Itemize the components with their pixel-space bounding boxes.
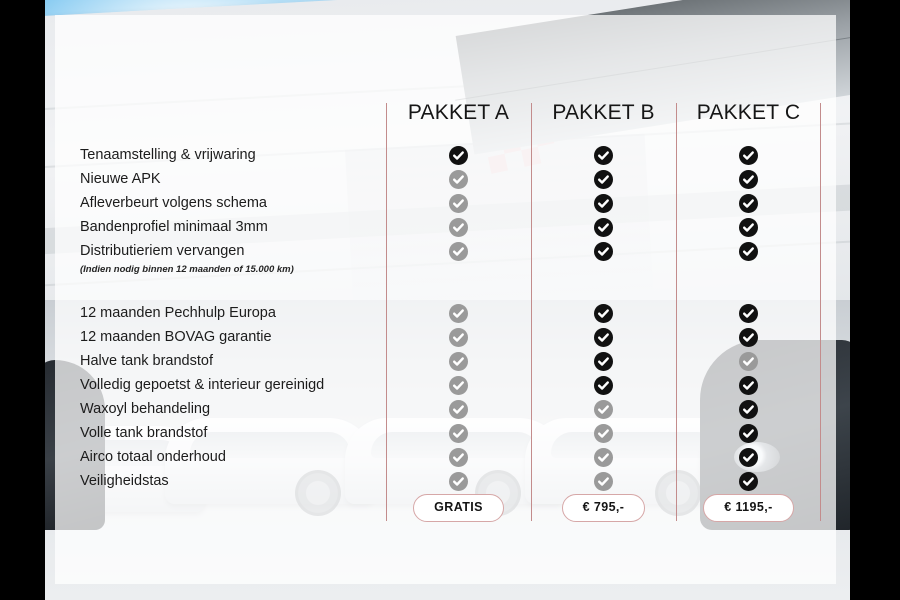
feature-label: Waxoyl behandeling: [80, 397, 380, 421]
check-cell: [676, 325, 821, 349]
feature-label-list: Tenaamstelling & vrijwaring Nieuwe APK A…: [80, 143, 380, 493]
feature-label: Veiligheidstas: [80, 469, 380, 493]
check-included-icon: [594, 146, 613, 165]
price-pill-pakket-a[interactable]: GRATIS: [413, 494, 504, 522]
feature-label: Tenaamstelling & vrijwaring: [80, 143, 380, 167]
check-excluded-icon: [594, 472, 613, 491]
check-excluded-icon: [449, 328, 468, 347]
check-cell: [676, 469, 821, 493]
check-included-icon: [594, 352, 613, 371]
feature-footnote: (Indien nodig binnen 12 maanden of 15.00…: [80, 263, 380, 279]
check-cell: [386, 445, 531, 469]
feature-label: 12 maanden Pechhulp Europa: [80, 301, 380, 325]
check-cell: [531, 469, 676, 493]
check-excluded-icon: [449, 194, 468, 213]
column-header-pakket-a: PAKKET A: [386, 101, 531, 125]
feature-label: Airco totaal onderhoud: [80, 445, 380, 469]
check-cell: [531, 215, 676, 239]
check-included-icon: [739, 304, 758, 323]
check-included-icon: [594, 218, 613, 237]
check-excluded-icon: [594, 400, 613, 419]
check-excluded-icon: [594, 424, 613, 443]
price-cell-pakket-c: € 1195,-: [676, 493, 821, 523]
check-cell: [386, 325, 531, 349]
check-included-icon: [739, 218, 758, 237]
check-cell: [676, 421, 821, 445]
check-cell: [531, 191, 676, 215]
check-included-icon: [739, 376, 758, 395]
column-header-pakket-b: PAKKET B: [531, 101, 676, 125]
check-included-icon: [739, 424, 758, 443]
price-cell-pakket-b: € 795,-: [531, 493, 676, 523]
package-comparison-card: PAKKET A PAKKET B PAKKET C Tenaamstellin…: [55, 15, 836, 584]
check-included-icon: [594, 194, 613, 213]
check-excluded-icon: [449, 304, 468, 323]
check-cell: [676, 143, 821, 167]
check-cell: [386, 349, 531, 373]
check-cell: [531, 167, 676, 191]
check-cell: [676, 215, 821, 239]
price-cell-pakket-a: GRATIS: [386, 493, 531, 523]
feature-label: Volledig gepoetst & interieur gereinigd: [80, 373, 380, 397]
check-cell: [676, 445, 821, 469]
footnote-spacer: [531, 263, 676, 279]
check-excluded-icon: [449, 352, 468, 371]
check-cell: [386, 191, 531, 215]
column-header-pakket-c: PAKKET C: [676, 101, 821, 125]
check-excluded-icon: [449, 218, 468, 237]
check-included-icon: [739, 194, 758, 213]
check-included-icon: [594, 328, 613, 347]
group-spacer: [386, 279, 531, 301]
check-column-pakket-c: [676, 143, 821, 493]
check-cell: [386, 301, 531, 325]
check-cell: [676, 239, 821, 263]
check-excluded-icon: [449, 448, 468, 467]
check-included-icon: [739, 400, 758, 419]
check-excluded-icon: [594, 448, 613, 467]
check-included-icon: [739, 328, 758, 347]
check-cell: [531, 143, 676, 167]
check-excluded-icon: [449, 400, 468, 419]
check-cell: [386, 373, 531, 397]
check-included-icon: [739, 146, 758, 165]
check-cell: [386, 167, 531, 191]
price-pill-pakket-b[interactable]: € 795,-: [562, 494, 646, 522]
check-included-icon: [594, 304, 613, 323]
group-separator: [80, 279, 380, 301]
check-cell: [531, 397, 676, 421]
check-excluded-icon: [449, 170, 468, 189]
check-cell: [676, 349, 821, 373]
check-cell: [531, 325, 676, 349]
check-column-pakket-b: [531, 143, 676, 493]
footnote-spacer: [676, 263, 821, 279]
feature-label: Afleverbeurt volgens schema: [80, 191, 380, 215]
feature-label: Bandenprofiel minimaal 3mm: [80, 215, 380, 239]
check-cell: [531, 421, 676, 445]
group-spacer: [531, 279, 676, 301]
check-included-icon: [739, 448, 758, 467]
check-included-icon: [594, 376, 613, 395]
check-cell: [676, 167, 821, 191]
check-cell: [676, 397, 821, 421]
check-excluded-icon: [449, 376, 468, 395]
check-cell: [386, 397, 531, 421]
check-cell: [531, 349, 676, 373]
check-excluded-icon: [449, 472, 468, 491]
check-cell: [386, 143, 531, 167]
check-included-icon: [449, 146, 468, 165]
check-cell: [386, 239, 531, 263]
feature-label: Distributieriem vervangen: [80, 239, 380, 263]
check-included-icon: [739, 472, 758, 491]
check-excluded-icon: [449, 242, 468, 261]
check-cell: [531, 445, 676, 469]
check-included-icon: [739, 170, 758, 189]
check-cell: [676, 301, 821, 325]
price-row: GRATIS € 795,- € 1195,-: [55, 493, 836, 523]
check-excluded-icon: [449, 424, 468, 443]
check-included-icon: [594, 242, 613, 261]
check-cell: [676, 373, 821, 397]
check-cell: [531, 239, 676, 263]
check-cell: [386, 215, 531, 239]
check-excluded-icon: [739, 352, 758, 371]
feature-label: 12 maanden BOVAG garantie: [80, 325, 380, 349]
check-cell: [531, 301, 676, 325]
feature-label: Halve tank brandstof: [80, 349, 380, 373]
check-cell: [676, 191, 821, 215]
footnote-spacer: [386, 263, 531, 279]
feature-label: Nieuwe APK: [80, 167, 380, 191]
screenshot-stage: PAKKET A PAKKET B PAKKET C Tenaamstellin…: [0, 0, 900, 600]
price-pill-pakket-c[interactable]: € 1195,-: [703, 494, 793, 522]
check-cell: [386, 469, 531, 493]
group-spacer: [676, 279, 821, 301]
check-cell: [531, 373, 676, 397]
check-cell: [386, 421, 531, 445]
check-column-pakket-a: [386, 143, 531, 493]
check-included-icon: [739, 242, 758, 261]
feature-label: Volle tank brandstof: [80, 421, 380, 445]
check-included-icon: [594, 170, 613, 189]
